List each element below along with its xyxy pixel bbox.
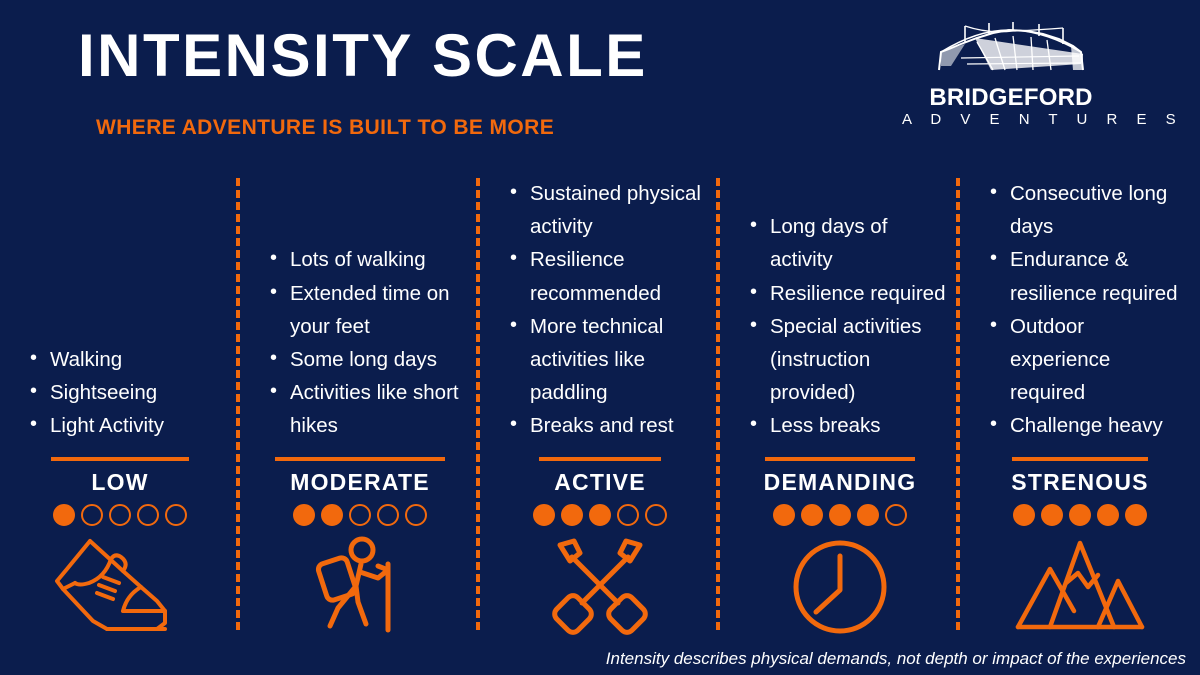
level-column-strenous: Consecutive long days Endurance & resili…: [960, 142, 1200, 642]
crossed-paddles-icon: [544, 532, 656, 642]
list-item: Lots of walking: [270, 243, 468, 276]
dot-empty: [349, 504, 371, 526]
level-column-moderate: Lots of walking Extended time on your fe…: [240, 142, 480, 642]
level-rule: [1012, 457, 1148, 461]
level-label-block-low: LOW: [0, 457, 240, 526]
level-label-block-active: ACTIVE: [480, 457, 720, 526]
level-label-block-demanding: DEMANDING: [720, 457, 960, 526]
bullet-list-strenous: Consecutive long days Endurance & resili…: [960, 177, 1200, 443]
dot-filled: [773, 504, 795, 526]
dot-empty: [137, 504, 159, 526]
list-item: Some long days: [270, 343, 468, 376]
level-label-block-moderate: MODERATE: [240, 457, 480, 526]
levels-container: Walking Sightseeing Light Activity LOW: [0, 142, 1200, 642]
footer-note: Intensity describes physical demands, no…: [606, 649, 1186, 669]
dot-filled: [561, 504, 583, 526]
level-name-active: ACTIVE: [480, 469, 720, 495]
intensity-dots-active: [480, 504, 720, 526]
list-item: Long days of activity: [750, 210, 948, 276]
bullet-list-low: Walking Sightseeing Light Activity: [0, 343, 240, 443]
dot-empty: [109, 504, 131, 526]
intensity-dots-moderate: [240, 504, 480, 526]
list-item: Challenge heavy: [990, 409, 1188, 442]
level-column-low: Walking Sightseeing Light Activity LOW: [0, 142, 240, 642]
list-item: Endurance & resilience required: [990, 243, 1188, 309]
infographic-root: INTENSITY SCALE WHERE ADVENTURE IS BUILT…: [0, 0, 1200, 675]
brand-subtitle: A D V E N T U R E S: [896, 110, 1126, 130]
list-item: Resilience recommended: [510, 243, 708, 309]
dot-filled: [533, 504, 555, 526]
sneaker-icon: [45, 532, 195, 642]
bullet-list-demanding: Long days of activity Resilience require…: [720, 210, 960, 442]
dot-filled: [589, 504, 611, 526]
list-item: Extended time on your feet: [270, 277, 468, 343]
dot-filled: [321, 504, 343, 526]
intensity-dots-strenous: [960, 504, 1200, 526]
dot-filled: [1097, 504, 1119, 526]
list-item: Consecutive long days: [990, 177, 1188, 243]
hiker-icon: [304, 532, 416, 642]
list-item: Activities like short hikes: [270, 376, 468, 442]
dot-empty: [645, 504, 667, 526]
level-rule: [539, 457, 661, 461]
clock-icon: [789, 532, 891, 642]
level-label-block-strenous: STRENOUS: [960, 457, 1200, 526]
list-item: More technical activities like paddling: [510, 310, 708, 410]
dot-filled: [1069, 504, 1091, 526]
list-item: Sightseeing: [30, 376, 228, 409]
list-item: Breaks and rest: [510, 409, 708, 442]
dot-filled: [1125, 504, 1147, 526]
page-tagline: WHERE ADVENTURE IS BUILT TO BE MORE: [96, 116, 554, 140]
dot-filled: [829, 504, 851, 526]
dot-filled: [293, 504, 315, 526]
level-name-demanding: DEMANDING: [720, 469, 960, 495]
list-item: Walking: [30, 343, 228, 376]
brand-logo: BRIDGEFORD A D V E N T U R E S: [896, 18, 1126, 130]
dot-filled: [1041, 504, 1063, 526]
list-item: Outdoor experience required: [990, 310, 1188, 410]
list-item: Sustained physical activity: [510, 177, 708, 243]
list-item: Special activities (instruction provided…: [750, 310, 948, 410]
intensity-dots-low: [0, 504, 240, 526]
dot-empty: [81, 504, 103, 526]
level-rule: [765, 457, 915, 461]
bullet-list-active: Sustained physical activity Resilience r…: [480, 177, 720, 443]
dot-filled: [1013, 504, 1035, 526]
page-title: INTENSITY SCALE: [78, 26, 648, 86]
dot-empty: [885, 504, 907, 526]
dot-filled: [53, 504, 75, 526]
mountains-icon: [1010, 532, 1150, 642]
dot-empty: [377, 504, 399, 526]
level-name-moderate: MODERATE: [240, 469, 480, 495]
dot-filled: [801, 504, 823, 526]
list-item: Resilience required: [750, 277, 948, 310]
level-column-active: Sustained physical activity Resilience r…: [480, 142, 720, 642]
level-rule: [51, 457, 189, 461]
dot-empty: [165, 504, 187, 526]
intensity-dots-demanding: [720, 504, 960, 526]
dot-empty: [405, 504, 427, 526]
dot-filled: [857, 504, 879, 526]
bullet-list-moderate: Lots of walking Extended time on your fe…: [240, 243, 480, 442]
level-column-demanding: Long days of activity Resilience require…: [720, 142, 960, 642]
level-name-low: LOW: [0, 469, 240, 495]
list-item: Light Activity: [30, 409, 228, 442]
bridge-icon: [896, 18, 1126, 85]
dot-empty: [617, 504, 639, 526]
level-name-strenous: STRENOUS: [960, 469, 1200, 495]
brand-name: BRIDGEFORD: [896, 85, 1126, 110]
list-item: Less breaks: [750, 409, 948, 442]
level-rule: [275, 457, 445, 461]
